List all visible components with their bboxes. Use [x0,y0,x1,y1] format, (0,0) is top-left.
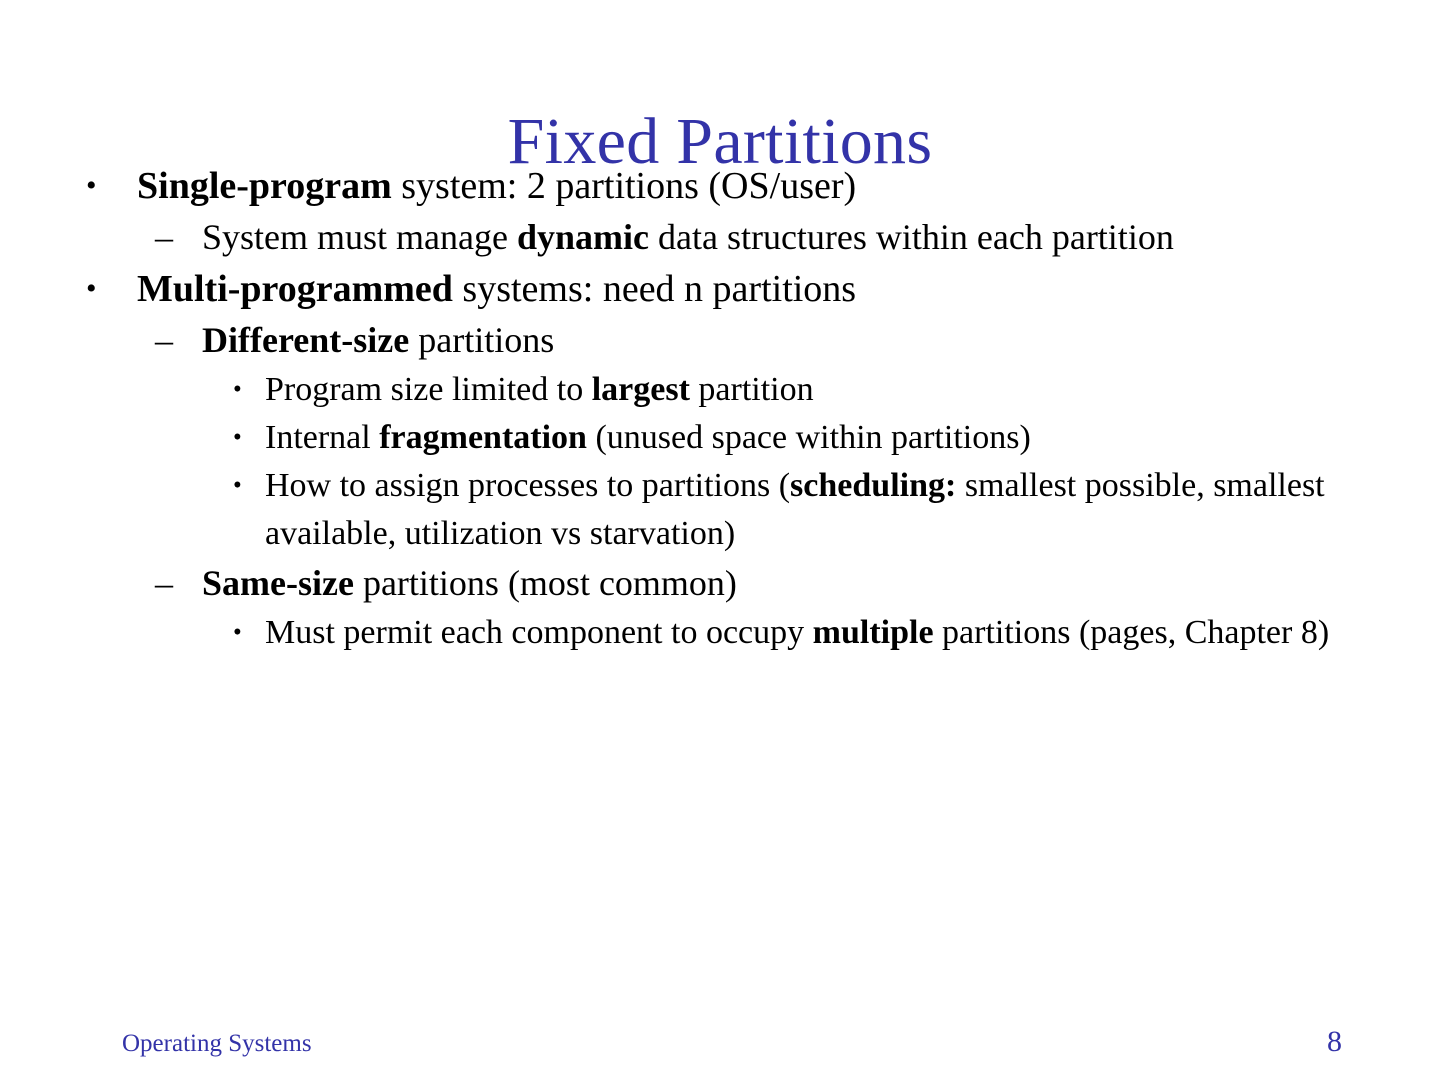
bullet-item: •How to assign processes to partitions (… [0,462,1440,558]
bullet-text: Single-program system: 2 partitions (OS/… [137,160,1380,212]
bullet-run: Must permit each component to occupy [265,614,813,651]
bullet-dot-icon: • [233,366,242,414]
bullet-run: How to assign processes to partitions ( [265,467,790,504]
bullet-dot-icon: • [233,414,242,462]
bullet-item: –System must manage dynamic data structu… [0,212,1440,263]
bullet-emphasis: largest [592,371,690,408]
bullet-run: partitions [409,320,554,360]
bullet-emphasis: Different-size [202,320,409,360]
bullet-text: How to assign processes to partitions (s… [265,462,1362,558]
bullet-text: Different-size partitions [202,315,1354,366]
bullet-run: Internal [265,419,379,456]
bullet-emphasis: Same-size [202,563,354,603]
bullet-item: –Same-size partitions (most common) [0,558,1440,609]
bullet-emphasis: multiple [813,614,934,651]
bullet-text: Program size limited to largest partitio… [265,366,1362,414]
bullet-text: Same-size partitions (most common) [202,558,1354,609]
page-number: 8 [1327,1026,1342,1058]
bullet-run: partitions (pages, Chapter 8) [934,614,1330,651]
bullet-emphasis: fragmentation [379,419,587,456]
bullet-text: Internal fragmentation (unused space wit… [265,414,1362,462]
bullet-run: system: 2 partitions (OS/user) [392,165,856,207]
bullet-run: System must manage [202,217,517,257]
bullet-item: •Single-program system: 2 partitions (OS… [0,160,1440,212]
bullet-item: •Multi-programmed systems: need n partit… [0,263,1440,315]
bullet-run: partitions (most common) [354,563,737,603]
bullet-emphasis: scheduling: [790,467,956,504]
bullet-item: •Internal fragmentation (unused space wi… [0,414,1440,462]
bullet-dot-icon: • [86,263,97,315]
bullet-text: System must manage dynamic data structur… [202,212,1354,263]
bullet-emphasis: Multi-programmed [137,268,453,310]
bullet-dash-icon: – [155,558,173,609]
bullet-emphasis: dynamic [517,217,649,257]
bullet-text: Must permit each component to occupy mul… [265,609,1362,657]
bullet-item: –Different-size partitions [0,315,1440,366]
bullet-dash-icon: – [155,315,173,366]
footer-label: Operating Systems [122,1029,312,1059]
bullet-run: (unused space within partitions) [587,419,1031,456]
bullet-dot-icon: • [233,462,242,510]
bullet-dot-icon: • [86,160,97,212]
bullet-dot-icon: • [233,609,242,657]
bullet-text: Multi-programmed systems: need n partiti… [137,263,1380,315]
bullet-dash-icon: – [155,212,173,263]
bullet-list: •Single-program system: 2 partitions (OS… [0,160,1440,657]
bullet-run: Program size limited to [265,371,592,408]
slide: Fixed Partitions •Single-program system:… [0,0,1440,1080]
bullet-item: •Must permit each component to occupy mu… [0,609,1440,657]
bullet-run: data structures within each partition [649,217,1174,257]
bullet-run: partition [690,371,814,408]
bullet-item: •Program size limited to largest partiti… [0,366,1440,414]
bullet-emphasis: Single-program [137,165,392,207]
bullet-run: systems: need n partitions [453,268,856,310]
